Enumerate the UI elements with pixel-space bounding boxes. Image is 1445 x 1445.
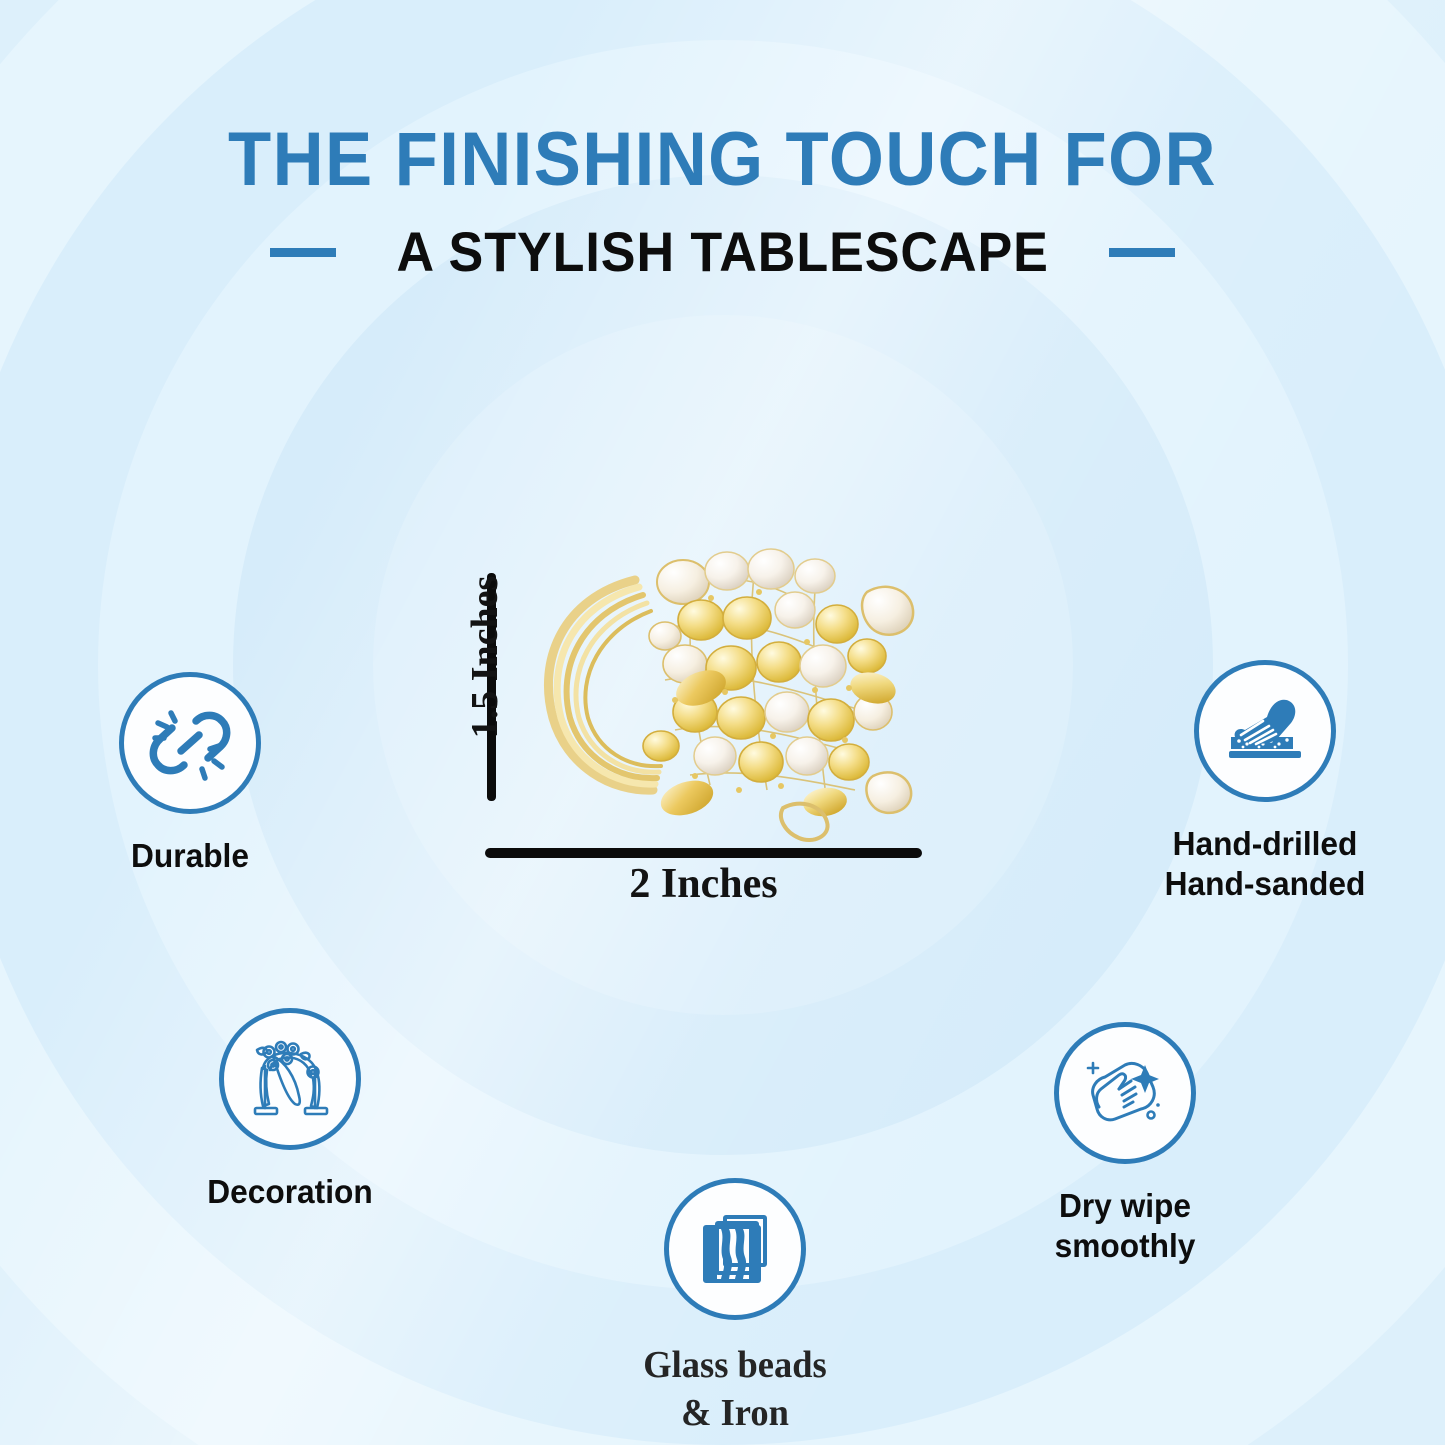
feature-label: Hand-drilled Hand-sanded bbox=[1111, 824, 1418, 905]
hand-sanding-icon bbox=[1219, 685, 1311, 777]
feature-glass-beads-iron[interactable]: Glass beads & Iron bbox=[590, 1178, 880, 1437]
feature-durable[interactable]: Durable bbox=[45, 672, 335, 876]
feature-label: Decoration bbox=[151, 1172, 429, 1212]
infographic-canvas: THE FINISHING TOUCH FOR A STYLISH TABLES… bbox=[0, 0, 1445, 1445]
subtitle-row: A STYLISH TABLESCAPE bbox=[0, 224, 1445, 280]
product-image-napkin-ring bbox=[515, 540, 930, 845]
product-dimension-group: 1.5 Inches 2 Inches bbox=[430, 540, 950, 930]
feature-icon-circle bbox=[219, 1008, 361, 1150]
page-title: THE FINISHING TOUCH FOR bbox=[51, 122, 1395, 198]
feature-hand-drilled-sanded[interactable]: Hand-drilled Hand-sanded bbox=[1105, 660, 1425, 905]
page-subtitle: A STYLISH TABLESCAPE bbox=[396, 224, 1048, 280]
hand-wiping-cloth-icon bbox=[1079, 1047, 1171, 1139]
height-dimension-label: 1.5 Inches bbox=[463, 547, 507, 767]
feature-icon-circle bbox=[664, 1178, 806, 1320]
feature-icon-circle bbox=[1054, 1022, 1196, 1164]
width-dimension-line bbox=[485, 848, 922, 858]
dash-right-icon bbox=[1109, 248, 1175, 257]
glass-panes-icon bbox=[691, 1205, 779, 1293]
feature-decoration[interactable]: Decoration bbox=[145, 1008, 435, 1212]
feature-label: Durable bbox=[51, 836, 329, 876]
feature-label: Glass beads & Iron bbox=[596, 1342, 874, 1437]
header: THE FINISHING TOUCH FOR A STYLISH TABLES… bbox=[0, 122, 1445, 280]
width-dimension-label: 2 Inches bbox=[485, 860, 922, 908]
chain-link-icon bbox=[144, 697, 236, 789]
feature-dry-wipe[interactable]: Dry wipe smoothly bbox=[990, 1022, 1260, 1267]
dash-left-icon bbox=[270, 248, 336, 257]
feature-icon-circle bbox=[1194, 660, 1336, 802]
feature-label: Dry wipe smoothly bbox=[995, 1186, 1254, 1267]
feature-icon-circle bbox=[119, 672, 261, 814]
wedding-arch-icon bbox=[243, 1032, 337, 1126]
